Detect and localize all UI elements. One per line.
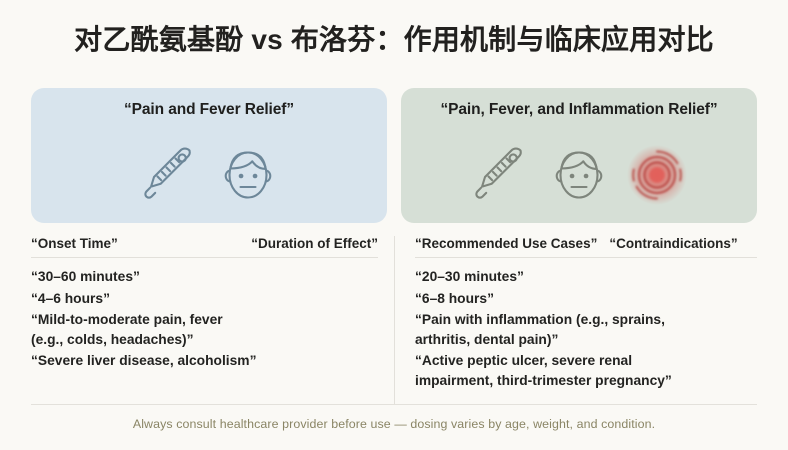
- inflammation-icon: [624, 139, 690, 211]
- table-row: “30–60 minutes”: [31, 267, 378, 287]
- thermometer-icon: [468, 139, 534, 211]
- table-row: “4–6 hours”: [31, 289, 378, 309]
- table-row: “Active peptic ulcer, severe renal impai…: [415, 351, 757, 390]
- card-acetaminophen: “Pain and Fever Relief”: [31, 88, 387, 223]
- table-header-row-left: “Onset Time” “Duration of Effect”: [31, 236, 378, 258]
- face-icon: [546, 139, 612, 211]
- page-title: 对乙酰氨基酚 vs 布洛芬：作用机制与临床应用对比: [0, 22, 788, 57]
- table-rows-left: “30–60 minutes” “4–6 hours” “Mild-to-mod…: [31, 258, 378, 371]
- card-title-acetaminophen: “Pain and Fever Relief”: [31, 101, 387, 119]
- icon-row-ibuprofen: [401, 135, 757, 215]
- table-row: “6–8 hours”: [415, 289, 757, 309]
- table-row: “Mild-to-moderate pain, fever (e.g., col…: [31, 310, 378, 349]
- table-row: “Pain with inflammation (e.g., sprains, …: [415, 310, 757, 349]
- table-column-ibuprofen: “Recommended Use Cases” “Contraindicatio…: [394, 236, 757, 404]
- face-icon: [215, 139, 281, 211]
- card-row: “Pain and Fever Relief”: [31, 88, 757, 223]
- footer-disclaimer: Always consult healthcare provider befor…: [0, 417, 788, 431]
- card-title-ibuprofen: “Pain, Fever, and Inflammation Relief”: [401, 101, 757, 119]
- footer-divider: [31, 404, 757, 405]
- comparison-table: “Onset Time” “Duration of Effect” “30–60…: [31, 236, 757, 404]
- infographic-page: 对乙酰氨基酚 vs 布洛芬：作用机制与临床应用对比 “Pain and Feve…: [0, 0, 788, 450]
- table-header-row-right: “Recommended Use Cases” “Contraindicatio…: [415, 236, 757, 258]
- header-onset-time: “Onset Time”: [31, 236, 118, 251]
- card-ibuprofen: “Pain, Fever, and Inflammation Relief”: [401, 88, 757, 223]
- thermometer-icon: [137, 139, 203, 211]
- table-row: “Severe liver disease, alcoholism”: [31, 351, 378, 371]
- header-contraindications: “Contraindications”: [609, 236, 737, 251]
- table-rows-right: “20–30 minutes” “6–8 hours” “Pain with i…: [415, 258, 757, 390]
- table-column-acetaminophen: “Onset Time” “Duration of Effect” “30–60…: [31, 236, 394, 404]
- header-recommended-use-cases: “Recommended Use Cases”: [415, 236, 597, 251]
- table-row: “20–30 minutes”: [415, 267, 757, 287]
- header-duration-of-effect: “Duration of Effect”: [251, 236, 378, 251]
- icon-row-acetaminophen: [31, 135, 387, 215]
